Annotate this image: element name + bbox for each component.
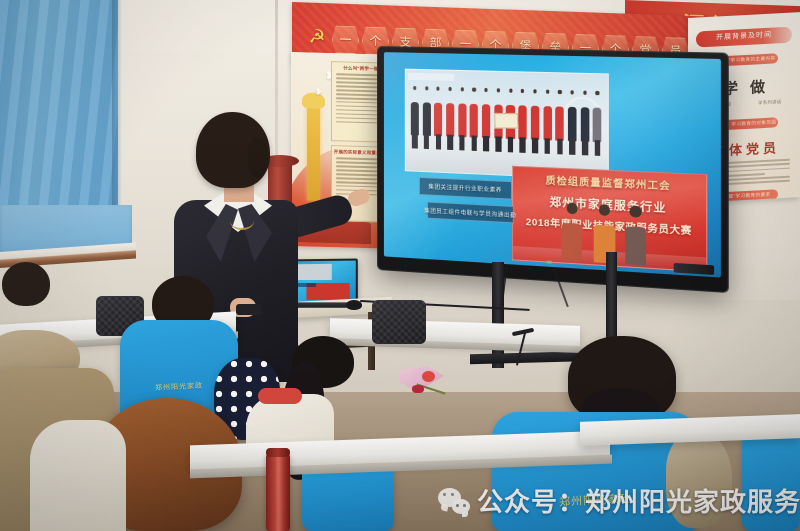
award-photo-person (493, 88, 504, 152)
award-photo-person (457, 87, 468, 150)
tv-screen: 质检组质量监督郑州工会 郑州市家庭服务行业 2018年度职业技能家政服务员大赛 (384, 52, 721, 277)
ceremony-banner-line-1: 质检组质量监督郑州工会 (513, 171, 706, 194)
flower-ribbon (412, 385, 424, 393)
attendee-red-scarf (258, 388, 302, 404)
group-award-photo (404, 69, 608, 181)
photo-top-logo-ring (563, 97, 601, 135)
blue-curtain (0, 0, 118, 218)
award-photo-person (445, 87, 456, 150)
award-photo-person (409, 86, 420, 149)
vest-back-text: 郑州阳光家政 (559, 490, 632, 510)
award-certificate (494, 113, 519, 128)
ceremony-person-left (560, 202, 585, 261)
flower-bud (422, 371, 435, 382)
attendee-head (2, 262, 50, 306)
award-photo-person (567, 90, 578, 155)
slide-caption-1: 集团关注提升行业职业素养 (419, 177, 512, 199)
tv-stand-post-left (492, 262, 504, 368)
party-slogan-cell-1: 一 (332, 25, 359, 54)
award-group-row (409, 86, 603, 156)
ceremony-banner-line-2: 郑州市家庭服务行业 (513, 192, 706, 218)
wall-mounted-display[interactable]: 质检组质量监督郑州工会 郑州市家庭服务行业 2018年度职业技能家政服务员大赛 (378, 47, 728, 292)
award-photo-person (421, 86, 432, 149)
award-photo-person (529, 89, 540, 153)
ceremony-banner-line-3: 2018年度职业技能家政服务员大赛 (513, 213, 706, 238)
attendee-white-fleece (30, 420, 126, 531)
presenter-necklace (230, 212, 254, 230)
poster-big-zuo: 做 (750, 78, 777, 96)
party-emblem-icon: ☭ (306, 26, 328, 49)
award-photo-person (469, 88, 480, 152)
attendee-back-left (0, 262, 60, 332)
wrapped-flower-bouquet (400, 366, 452, 402)
presenter-hair (196, 112, 270, 188)
tv-power-led (547, 260, 552, 263)
award-photo-person (592, 91, 604, 156)
thermos-cap (266, 448, 290, 457)
ceremony-person-right (623, 206, 648, 266)
award-photo-person (517, 89, 528, 153)
red-thermos-bottle (266, 452, 290, 531)
award-photo-person (481, 88, 492, 152)
photo-top-banner (407, 73, 454, 81)
photograph-scene: 深入开展 ☭ 一个支部一个堡垒一个党员一面旗帜 ❥ ❥ 什么叫"两学一做" 开展… (0, 0, 800, 531)
attendee-coat-sleeve (666, 432, 732, 528)
poster-right-header: 开展背景及时间 (696, 27, 792, 48)
poster-right-small-right: 学系列讲话 (758, 99, 781, 106)
tv-bezel: 质检组质量监督郑州工会 郑州市家庭服务行业 2018年度职业技能家政服务员大赛 (384, 52, 721, 277)
photo-top-ground (405, 144, 607, 179)
award-photo-person (433, 87, 444, 150)
award-photo-person (505, 89, 516, 153)
dove-icon: ❥ (315, 87, 323, 98)
award-photo-person (554, 90, 565, 155)
vest-back-text: 郑州阳光家政 (155, 381, 203, 393)
slide-caption-2: 集团员工组件电联与学员沟通出勤 (427, 201, 514, 223)
award-photo-person (542, 90, 553, 155)
curtain-edge (112, 0, 122, 222)
award-photo-person (579, 91, 591, 156)
